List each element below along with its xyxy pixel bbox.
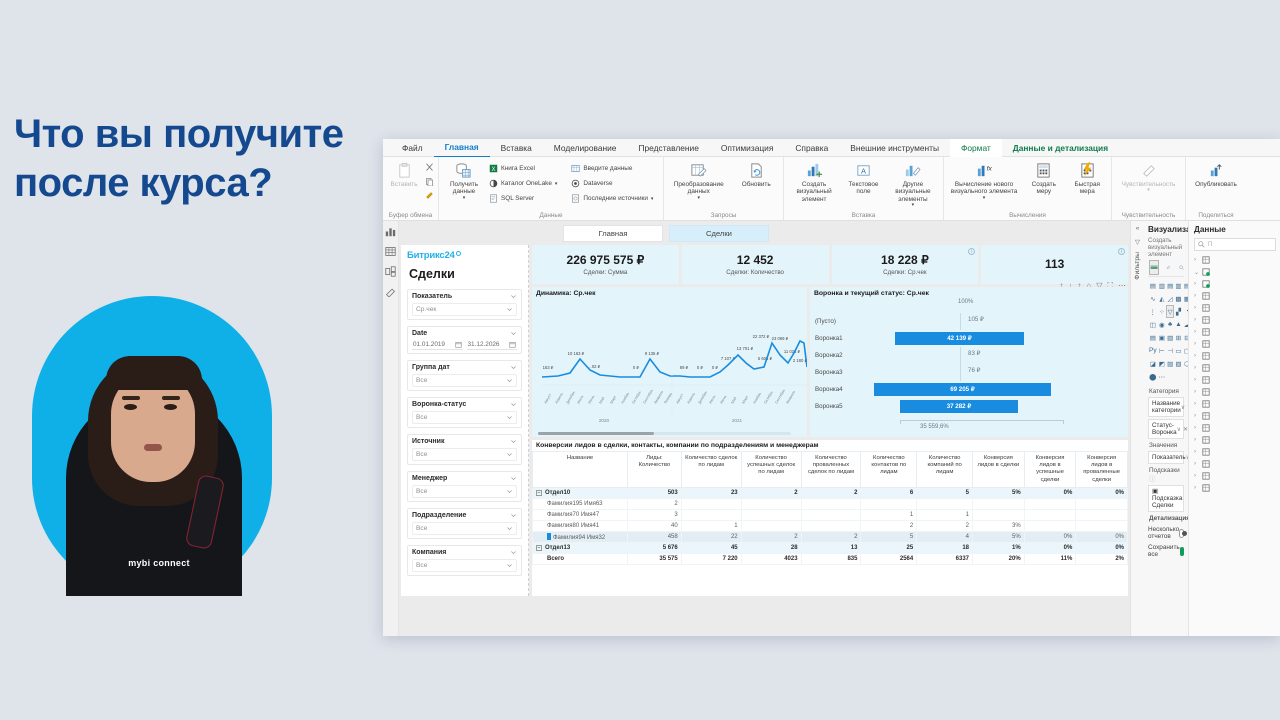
date-from-input[interactable]: 01.01.2019 — [412, 340, 463, 350]
chevron-down-icon[interactable] — [506, 451, 513, 458]
info-icon[interactable]: ⓘ — [1149, 476, 1155, 483]
queries-group-label: Запросы — [668, 212, 779, 220]
filters-pane-collapsed[interactable]: « ▽ Фильтры — [1131, 221, 1144, 636]
svg-text:163 ₽: 163 ₽ — [543, 365, 554, 370]
column-header-conv-won[interactable]: Конверсия лидов в успешные сделки — [1024, 452, 1076, 488]
cell — [973, 498, 1025, 509]
year-label-2020: 2020 — [599, 418, 610, 423]
cell: 1 — [681, 520, 741, 531]
new-measure-label: Создать меру — [1024, 181, 1063, 196]
funnel-category: Воронка2 — [810, 352, 872, 359]
chevron-right-icon[interactable]: › — [1194, 413, 1199, 419]
field-actions-icon[interactable]: ∨✕ — [1181, 404, 1188, 411]
cell — [741, 509, 801, 520]
ribbon-tab-view[interactable]: Представление — [627, 139, 709, 157]
svg-text:Январь: Январь — [663, 392, 673, 405]
power-apps-icon[interactable]: ◪ — [1149, 358, 1157, 369]
chevron-right-icon[interactable]: › — [1194, 305, 1199, 311]
data-tree-node[interactable]: › — [1194, 374, 1276, 386]
funnel-row-5[interactable]: Воронка5 37 282 ₽ — [810, 398, 1124, 415]
ribbon-tab-help[interactable]: Справка — [784, 139, 839, 157]
chevron-right-icon[interactable]: › — [1194, 317, 1199, 323]
data-tree-node[interactable]: › — [1194, 290, 1276, 302]
text-box-button[interactable]: A Текстовое поле — [844, 160, 883, 196]
svg-text:Декабрь: Декабрь — [565, 390, 576, 404]
table-row[interactable]: Фамилия195 Имя63 2 — [533, 498, 1128, 509]
kpi-card-sum[interactable]: 226 975 575 ₽ Сделки: Сумма — [532, 245, 679, 284]
chevron-right-icon[interactable]: › — [1194, 401, 1199, 407]
funnel-chart-visual[interactable]: Воронка и текущий статус: Ср.чек 100% (П… — [810, 287, 1128, 437]
enter-data-label: Введите данные — [583, 165, 632, 172]
cell: 2% — [1076, 553, 1128, 564]
field-chip[interactable]: ▣ Подсказка Сделки — [1148, 485, 1184, 512]
field-name: ▣ Подсказка Сделки — [1152, 488, 1182, 509]
chevron-down-icon[interactable] — [510, 475, 517, 482]
cell: 0% — [1024, 531, 1076, 542]
decomposition-tree-icon[interactable]: ⊢ — [1159, 345, 1166, 356]
report-canvas: Главная Сделки Битрикс24 Сделки Показате… — [399, 221, 1130, 636]
funnel-chart-icon[interactable]: ▽ — [1167, 306, 1173, 317]
filter-value-row[interactable]: Все — [412, 559, 517, 572]
filter-value-row[interactable]: Все — [412, 522, 517, 535]
area-chart-icon[interactable]: ◭ — [1159, 293, 1166, 304]
filled-map-icon[interactable]: ♣ — [1167, 319, 1173, 330]
slicer-icon[interactable]: ▤ — [1149, 332, 1157, 343]
date-to-input[interactable]: 31.12.2026 — [467, 340, 518, 350]
filter-label: Показатель — [412, 293, 452, 300]
calculations-group-label: Вычисления — [948, 212, 1107, 220]
kpi-card-avg-check[interactable]: i 18 228 ₽ Сделки: Ср.чек — [832, 245, 979, 284]
filter-istochnik[interactable]: Источник Все — [407, 434, 522, 465]
new-visual-button[interactable]: Создать визуальный элемент — [788, 160, 840, 203]
row-label: Отдел13 — [545, 545, 570, 551]
publish-button[interactable]: Опубликовать — [1190, 160, 1242, 188]
multi-row-card-icon[interactable]: ▣ — [1159, 332, 1166, 343]
filter-value-row[interactable]: Все — [412, 374, 517, 387]
ribbon-tab-optimize[interactable]: Оптимизация — [710, 139, 785, 157]
svg-text:Октябрь: Октябрь — [763, 390, 773, 404]
gauge-icon[interactable]: ◫ — [1149, 319, 1157, 330]
cell: 835 — [801, 553, 861, 564]
chevron-right-icon[interactable]: › — [1194, 329, 1199, 335]
nav-button-home[interactable]: Главная — [563, 225, 663, 242]
table-row[interactable]: Фамилия94 Имя32 458 22 2 2 5 4 5% 0% 0 — [533, 531, 1128, 542]
chevron-down-icon[interactable] — [510, 401, 517, 408]
info-icon[interactable]: i — [968, 248, 975, 255]
chevron-right-icon[interactable]: › — [1194, 473, 1199, 479]
more-visuals-label: Другие визуальные элементы — [887, 181, 939, 203]
drillthrough-option-multi[interactable]: Несколько отчетов — [1148, 526, 1184, 540]
data-tree-node[interactable]: › — [1194, 338, 1276, 350]
chevron-down-icon[interactable] — [510, 330, 517, 337]
filter-value: Все — [416, 451, 427, 458]
stacked-bar-chart-icon[interactable]: ▤ — [1149, 280, 1157, 291]
cell: 18 — [917, 542, 973, 553]
stacked-area-chart-icon[interactable]: ◿ — [1167, 293, 1173, 304]
paste-label: Вставить — [390, 181, 417, 188]
table-node-icon — [1202, 424, 1210, 432]
data-search-placeholder: П — [1208, 241, 1212, 248]
svg-text:Декабрь: Декабрь — [697, 390, 708, 404]
table-row[interactable]: −Отдел10 503 23 2 2 6 5 5% 0% 0% — [533, 487, 1128, 498]
waterfall-chart-icon[interactable]: ⋮ — [1149, 306, 1157, 317]
date-from-value: 01.01.2019 — [413, 341, 445, 348]
ribbon-group-share: Опубликовать Поделиться — [1186, 157, 1246, 220]
chevron-right-icon[interactable]: › — [1194, 281, 1199, 287]
svg-text:9 135 ₽: 9 135 ₽ — [645, 351, 660, 356]
cell: 2564 — [861, 553, 917, 564]
field-chip[interactable]: Показатель ∨✕ — [1148, 451, 1184, 464]
nav-button-deals[interactable]: Сделки — [669, 225, 769, 242]
drillthrough-label: Детализация — [1149, 515, 1184, 522]
power-automate-icon[interactable]: ◩ — [1159, 358, 1166, 369]
chevron-right-icon[interactable]: › — [1194, 377, 1199, 383]
matrix-visual[interactable]: Конверсии лидов в сделки, контакты, комп… — [532, 440, 1128, 596]
format-painter-button[interactable] — [425, 189, 434, 202]
filter-podrazdelenie[interactable]: Подразделение Все — [407, 508, 522, 539]
get-data-button[interactable]: Получить данные ▾ — [443, 160, 485, 201]
scatter-chart-icon[interactable]: ⁘ — [1159, 306, 1166, 317]
right-panes: « ▽ Фильтры Визуализации » Создать визуа… — [1130, 221, 1280, 636]
data-tree-node[interactable]: › — [1194, 350, 1276, 362]
new-measure-icon — [1035, 162, 1052, 179]
option-label: Несколько отчетов — [1148, 526, 1179, 540]
cell: 40 — [628, 520, 682, 531]
analytics-icon[interactable] — [1179, 261, 1184, 274]
card-icon[interactable]: ◉ — [1159, 319, 1166, 330]
cell: 5% — [973, 531, 1025, 542]
chevron-down-icon[interactable] — [506, 414, 513, 421]
expand-icon[interactable]: − — [536, 490, 542, 496]
cell: 28 — [741, 542, 801, 553]
toggle-off[interactable] — [1179, 529, 1184, 538]
chevron-down-icon[interactable] — [506, 488, 513, 495]
funnel-category: (Пусто) — [810, 318, 872, 325]
filter-label: Date — [412, 330, 427, 337]
chevron-right-icon[interactable]: › — [1194, 437, 1199, 443]
funnel-category: Воронка4 — [810, 386, 872, 393]
chevron-right-icon[interactable]: › — [1194, 389, 1199, 395]
funnel-bar[interactable]: 42 139 ₽ — [895, 332, 1024, 345]
cell: 5 676 — [628, 542, 682, 553]
funnel-category: Воронка3 — [810, 369, 872, 376]
column-header-name[interactable]: Название — [533, 452, 628, 488]
ribbon-tab-insert[interactable]: Вставка — [490, 139, 543, 157]
toggle-on[interactable] — [1180, 547, 1184, 556]
chevron-right-icon[interactable]: › — [1194, 365, 1199, 371]
svg-text:Май: Май — [730, 396, 737, 404]
line-chart-icon[interactable]: ∿ — [1149, 293, 1157, 304]
kpi-label: Сделки: Сумма — [583, 269, 627, 276]
column-header-contacts[interactable]: Количество контактов по лидам — [861, 452, 917, 488]
cell: 1 — [861, 509, 917, 520]
visual-calc-icon: fx — [976, 162, 993, 179]
kpi-card-count[interactable]: 12 452 Сделки: Количество — [682, 245, 829, 284]
kpi-card-extra[interactable]: i 113 ↑ ↓ ↕ ⌂ ▽ ⛶ ⋯ — [981, 245, 1128, 284]
table-node-icon — [1202, 340, 1210, 348]
chevron-down-icon[interactable] — [510, 438, 517, 445]
funnel-row-1[interactable]: Воронка1 42 139 ₽ — [810, 330, 1124, 347]
table-node-icon — [1202, 412, 1210, 420]
column-header-conv-lost[interactable]: Конверсия лидов в проваленные сделки — [1076, 452, 1128, 488]
chevron-right-icon[interactable]: › — [1194, 485, 1199, 491]
well-label: Подсказки ⓘ — [1149, 467, 1184, 483]
data-tree-node[interactable]: › — [1194, 326, 1276, 338]
field-chip[interactable]: Статус-Воронка ∨✕ — [1148, 419, 1184, 439]
data-tree-node[interactable]: › — [1194, 398, 1276, 410]
report-view-icon[interactable] — [385, 226, 396, 237]
ribbon-tab-data-drill[interactable]: Данные и детализация — [1002, 139, 1119, 157]
scorecard-icon[interactable]: ▨ — [1167, 358, 1173, 369]
cell: 0% — [1076, 531, 1128, 542]
presenter-brow-left — [122, 396, 140, 400]
python-visual-icon[interactable]: Py — [1149, 345, 1157, 356]
chevron-right-icon[interactable]: › — [1194, 353, 1199, 359]
transform-data-label: Преобразование данных — [668, 181, 729, 196]
table-node-icon — [1202, 472, 1210, 480]
ribbon-tab-modeling[interactable]: Моделирование — [543, 139, 628, 157]
chevron-right-icon[interactable]: › — [1194, 293, 1199, 299]
chevron-down-icon[interactable] — [506, 525, 513, 532]
funnel-value: 105 ₽ — [968, 316, 984, 323]
chevron-down-icon[interactable] — [510, 549, 517, 556]
model-view-icon[interactable] — [385, 266, 396, 277]
data-tree-node[interactable]: › — [1194, 410, 1276, 422]
cell — [917, 498, 973, 509]
data-tree-node[interactable]: › — [1194, 386, 1276, 398]
visualizations-pane-title: Визуализации — [1148, 225, 1188, 234]
cell: 4 — [917, 531, 973, 542]
visualization-type-grid: ▤ ▥ ▤ ▥ ▤ ▥ ∿ ◭ ◿ ▩ ▦ ▨ ⋮ ⁘ ▽ ▞ ◔ — [1148, 276, 1184, 385]
svg-text:Март: Март — [741, 395, 749, 405]
dax-query-view-icon[interactable] — [385, 286, 396, 297]
data-search-input[interactable]: П — [1194, 238, 1276, 251]
chevron-right-icon[interactable]: › — [1194, 341, 1199, 347]
get-more-visuals-icon[interactable]: ⬤ — [1149, 371, 1157, 382]
data-tree-node[interactable]: › — [1194, 482, 1276, 494]
table-row[interactable]: Всего 35 575 7 220 4023 835 2564 6337 20… — [533, 553, 1128, 564]
visualizations-pane-header: Визуализации » — [1148, 225, 1184, 234]
format-visual-icon[interactable] — [1166, 261, 1171, 274]
stacked-column-chart-icon[interactable]: ▥ — [1159, 280, 1166, 291]
sensitivity-button[interactable]: Чувствительность ▾ — [1118, 160, 1180, 194]
data-tree-node[interactable]: › — [1194, 254, 1276, 266]
chevron-down-icon[interactable]: ⌄ — [1194, 269, 1199, 276]
line-chart-visual[interactable]: Динамика: Ср.чек 163 ₽ 10 163 ₽ …02 ₽ 0 … — [532, 287, 807, 437]
chevron-down-icon[interactable] — [506, 377, 513, 384]
kpi-row: 226 975 575 ₽ Сделки: Сумма 12 452 Сделк… — [532, 245, 1128, 284]
clustered-column-chart-icon[interactable]: ▥ — [1175, 280, 1181, 291]
table-view-icon[interactable] — [385, 246, 396, 257]
more-visual-options-icon[interactable]: ⋯ — [1159, 371, 1166, 382]
chevron-right-icon[interactable]: › — [1194, 425, 1199, 431]
narrative-icon[interactable]: ⊣ — [1167, 345, 1173, 356]
get-data-icon — [455, 162, 472, 179]
row-label: Фамилия94 Имя32 — [553, 535, 605, 541]
cell: 35 575 — [628, 553, 682, 564]
sql-server-button[interactable]: SQL Server — [489, 192, 567, 205]
viz-mode-tabs — [1148, 260, 1184, 276]
cut-icon — [425, 163, 434, 172]
new-visual-label: Создать визуальный элемент — [788, 181, 840, 203]
data-tree-node[interactable]: › — [1194, 458, 1276, 470]
visualizations-pane: Визуализации » Создать визуальный элемен… — [1144, 221, 1188, 636]
data-tree-node[interactable]: › — [1194, 314, 1276, 326]
svg-text:0 ₽: 0 ₽ — [633, 365, 639, 370]
filters-pane-label: Фильтры — [1134, 252, 1141, 280]
column-header-lost-deals[interactable]: Количество проваленных сделок по лидам — [801, 452, 861, 488]
new-visual-icon — [806, 162, 823, 179]
ribbon-tab-format[interactable]: Формат — [950, 139, 1002, 157]
table-row[interactable]: Фамилия70 Имя47 3 1 1 — [533, 509, 1128, 520]
enter-data-button[interactable]: Введите данные — [571, 162, 659, 175]
column-header-leads[interactable]: Лиды: Количество — [628, 452, 682, 488]
data-tree-node[interactable]: › — [1194, 422, 1276, 434]
treemap-icon[interactable]: ▞ — [1175, 306, 1181, 317]
table-row[interactable]: −Отдел13 5 676 45 28 13 25 18 1% 0% 0% — [533, 542, 1128, 553]
cell: 2 — [861, 520, 917, 531]
info-icon[interactable]: i — [1118, 248, 1125, 255]
paste-button[interactable]: Вставить — [387, 160, 421, 188]
funnel-row-3[interactable]: Воронка3 76 ₽ — [810, 364, 1124, 381]
filter-value-row[interactable]: Все — [412, 411, 517, 424]
chevron-down-icon[interactable] — [506, 562, 513, 569]
calendar-icon[interactable] — [455, 341, 462, 348]
drillthrough-option-keepall[interactable]: Сохранить все — [1148, 544, 1184, 558]
transform-data-button[interactable]: Преобразование данных ▾ — [668, 160, 729, 201]
dataverse-button[interactable]: Dataverse — [571, 177, 659, 190]
recent-sources-button[interactable]: Последние источники ▾ — [571, 192, 659, 205]
build-visual-icon[interactable] — [1150, 261, 1158, 274]
funnel-bar[interactable]: 69 205 ₽ — [874, 383, 1051, 396]
chevron-down-icon[interactable] — [510, 293, 517, 300]
filter-menedzher[interactable]: Менеджер Все — [407, 471, 522, 502]
cell: 45 — [681, 542, 741, 553]
collapse-chevron-icon[interactable]: « — [1136, 225, 1140, 232]
enter-data-icon — [571, 164, 580, 173]
bitrix-logo: Битрикс24 — [407, 250, 522, 261]
filter-voronka-status[interactable]: Воронка-статус Все — [407, 397, 522, 428]
bitrix-logo-text: Битрикс24 — [407, 250, 455, 261]
copy-button[interactable] — [425, 175, 434, 188]
ribbon-tab-home[interactable]: Главная — [434, 139, 490, 158]
filter-value-row[interactable]: Ср.чек — [412, 303, 517, 316]
funnel-value: 69 205 ₽ — [950, 386, 975, 393]
svg-text:Июль: Июль — [576, 394, 584, 404]
field-name-text: Подсказка Сделки — [1152, 495, 1182, 509]
key-influencers-icon[interactable]: ▧ — [1167, 332, 1173, 343]
visual-calculation-button[interactable]: fx Вычисление нового визуального элемент… — [948, 160, 1020, 201]
funnel-row-4[interactable]: Воронка4 69 205 ₽ — [810, 381, 1124, 398]
data-tree-node[interactable]: ⌄ — [1194, 266, 1276, 278]
chevron-down-icon[interactable] — [510, 364, 517, 371]
chevron-right-icon[interactable]: › — [1194, 449, 1199, 455]
quick-measure-button[interactable]: Быстрая мера — [1068, 160, 1107, 196]
cell: 23 — [681, 487, 741, 498]
chart-horizontal-scrollbar[interactable] — [538, 432, 791, 435]
table-node-icon — [1202, 352, 1210, 360]
search-icon — [1198, 241, 1205, 248]
filter-label: Группа дат — [412, 364, 450, 371]
cell: 11% — [1024, 553, 1076, 564]
funnel-chart-title: Воронка и текущий статус: Ср.чек — [810, 287, 1128, 297]
more-visuals-button[interactable]: Другие визуальные элементы ▾ — [887, 160, 939, 209]
filter-value-row[interactable]: Все — [412, 485, 517, 498]
cell: 458 — [628, 531, 682, 542]
data-tree-node[interactable]: › — [1194, 278, 1276, 290]
custom-visual-icon[interactable]: ▧ — [1175, 358, 1181, 369]
filter-date[interactable]: Date 01.01.2019 31.12.2026 — [407, 326, 522, 354]
clustered-bar-chart-icon[interactable]: ▤ — [1167, 280, 1173, 291]
share-group-label: Поделиться — [1190, 212, 1242, 220]
data-tree-node[interactable]: › — [1194, 470, 1276, 482]
table-node-icon — [1202, 304, 1210, 312]
ribbon-tab-file[interactable]: Файл — [391, 139, 434, 157]
cell — [801, 520, 861, 531]
svg-text:X: X — [491, 167, 495, 173]
column-header-conv-deals[interactable]: Конверсия лидов в сделки — [973, 452, 1025, 488]
chevron-down-icon[interactable] — [506, 306, 513, 313]
chevron-right-icon[interactable]: › — [1194, 461, 1199, 467]
qna-icon[interactable]: ▭ — [1175, 345, 1181, 356]
chevron-right-icon[interactable]: › — [1194, 257, 1199, 263]
column-header-deals[interactable]: Количество сделок по лидам — [681, 452, 741, 488]
expand-icon[interactable]: − — [536, 545, 542, 551]
data-tree-node[interactable]: › — [1194, 362, 1276, 374]
chevron-down-icon[interactable] — [510, 512, 517, 519]
filter-pokazatel[interactable]: Показатель Ср.чек — [407, 289, 522, 320]
line-stacked-column-icon[interactable]: ▩ — [1175, 293, 1181, 304]
azure-map-icon[interactable]: ▲ — [1175, 319, 1181, 330]
power-bi-window: Файл Главная Вставка Моделирование Предс… — [383, 139, 1280, 636]
data-tree-node[interactable]: › — [1194, 434, 1276, 446]
refresh-icon — [748, 162, 765, 179]
presenter-eye-left — [124, 404, 137, 410]
field-actions-icon[interactable]: ∨✕ — [1177, 426, 1188, 433]
data-tree-node[interactable]: › — [1194, 302, 1276, 314]
field-chip[interactable]: Название категории ∨✕ — [1148, 397, 1184, 417]
column-header-companies[interactable]: Количество компаний по лидам — [917, 452, 973, 488]
cut-button[interactable] — [425, 161, 434, 174]
well-label: Значения — [1149, 442, 1184, 449]
publish-icon — [1208, 162, 1225, 179]
table-node-icon — [1202, 388, 1210, 396]
funnel-row-2[interactable]: Воронка2 83 ₽ — [810, 347, 1124, 364]
table-icon[interactable]: ⊞ — [1175, 332, 1181, 343]
funnel-bar[interactable]: 37 282 ₽ — [900, 400, 1018, 413]
onelake-catalog-label: Каталог OneLake — [501, 180, 552, 187]
filter-gruppa-dat[interactable]: Группа дат Все — [407, 360, 522, 391]
ribbon-tab-external-tools[interactable]: Внешние инструменты — [839, 139, 950, 157]
cell: 2 — [801, 487, 861, 498]
column-header-won-deals[interactable]: Количество успешных сделок по лидам — [741, 452, 801, 488]
onelake-catalog-button[interactable]: Каталог OneLake ▾ — [489, 177, 567, 190]
filter-value: Ср.чек — [416, 306, 436, 313]
svg-text:10 163 ₽: 10 163 ₽ — [568, 351, 585, 356]
cell: 6 — [861, 487, 917, 498]
data-tree-node[interactable]: › — [1194, 446, 1276, 458]
cell: 3 — [628, 509, 682, 520]
table-row[interactable]: Фамилия80 Имя41 40 1 2 2 3% — [533, 520, 1128, 531]
new-measure-button[interactable]: Создать меру — [1024, 160, 1063, 196]
refresh-button[interactable]: Обновить — [733, 160, 779, 188]
calendar-icon[interactable] — [509, 341, 516, 348]
excel-workbook-button[interactable]: X Книга Excel — [489, 162, 567, 175]
funnel-row-empty[interactable]: (Пусто) 105 ₽ — [810, 313, 1124, 330]
field-name: Статус-Воронка — [1152, 422, 1177, 436]
filter-value-row[interactable]: Все — [412, 448, 517, 461]
filter-kompaniya[interactable]: Компания Все — [407, 545, 522, 576]
